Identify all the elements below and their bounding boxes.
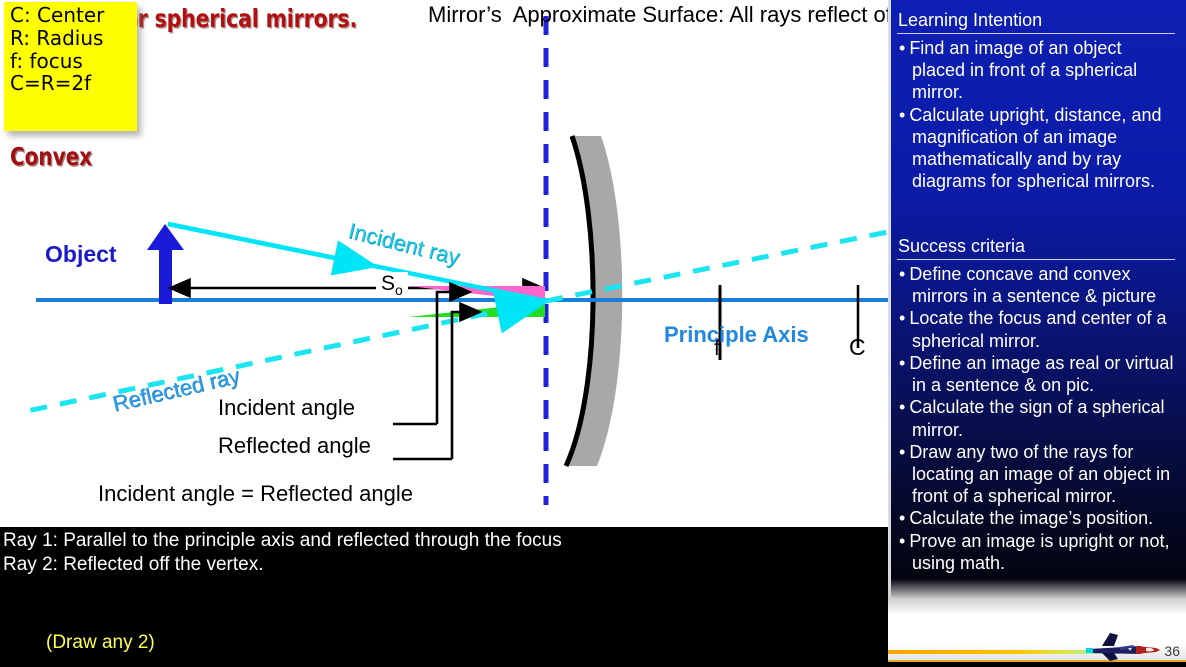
object-arrow [147,224,184,304]
angle-equality-label: Incident angle = Reflected angle [98,481,413,507]
slide: Mirror’s Approximate Surface: All rays r… [0,0,1186,667]
objectives-sidebar: Learning Intention Find an image of an o… [888,0,1186,667]
learning-intention-heading: Learning Intention [891,8,1183,32]
so-sub: o [395,282,403,298]
object-label: Object [45,241,117,268]
principle-axis-label: Principle Axis [664,322,809,348]
list-item: Locate the focus and center of a spheric… [899,307,1177,351]
definition-box: C: Center R: Radius f: focus C=R=2f [4,2,137,131]
success-criteria-rule [897,259,1175,260]
definition-line-center: C: Center [10,4,133,27]
page-number: 36 [1164,643,1180,659]
ray-rule-1: Ray 1: Parallel to the principle axis an… [3,529,603,553]
draw-any-note: (Draw any 2) [46,632,155,654]
learning-intention-panel: Learning Intention Find an image of an o… [891,8,1183,193]
list-item: Draw any two of the rays for locating an… [899,441,1177,508]
ray-rules-notes: Ray 1: Parallel to the principle axis an… [3,529,603,577]
incident-angle-label: Incident angle [218,395,355,421]
sidebar-fade-band [888,579,1186,615]
reflected-angle-leader [452,312,480,459]
jet-icon [1084,629,1162,663]
list-item: Prove an image is upright or not, using … [899,530,1177,574]
focus-label: f [714,337,720,361]
center-label: C [849,334,866,361]
slide-red-title: for spherical mirrors. [115,4,357,33]
success-criteria-heading: Success criteria [891,234,1183,258]
incident-ray-arrowhead [168,224,374,266]
learning-intention-list: Find an image of an object placed in fro… [891,37,1183,193]
success-criteria-list: Define concave and convex mirrors in a s… [891,263,1183,574]
list-item: Define concave and convex mirrors in a s… [899,263,1177,307]
list-item: Define an image as real or virtual in a … [899,352,1177,396]
success-criteria-panel: Success criteria Define concave and conv… [891,234,1183,574]
list-item: Find an image of an object placed in fro… [899,37,1177,104]
learning-intention-rule [897,33,1175,34]
so-main: S [381,272,395,295]
list-item: Calculate the sign of a spherical mirror… [899,396,1177,440]
mirror-surface-note: Mirror’s Approximate Surface: All rays r… [428,2,878,29]
mirror-type-heading: Convex [10,142,92,171]
reflected-angle-label: Reflected angle [218,433,371,459]
definition-line-relation: C=R=2f [10,72,133,95]
object-distance-label: So [376,272,408,298]
list-item: Calculate upright, distance, and magnifi… [899,104,1177,193]
definition-line-radius: R: Radius [10,27,133,50]
list-item: Calculate the image’s position. [899,507,1177,529]
ray-rule-2: Ray 2: Reflected off the vertex. [3,553,603,577]
definition-line-focus: f: focus [10,50,133,73]
